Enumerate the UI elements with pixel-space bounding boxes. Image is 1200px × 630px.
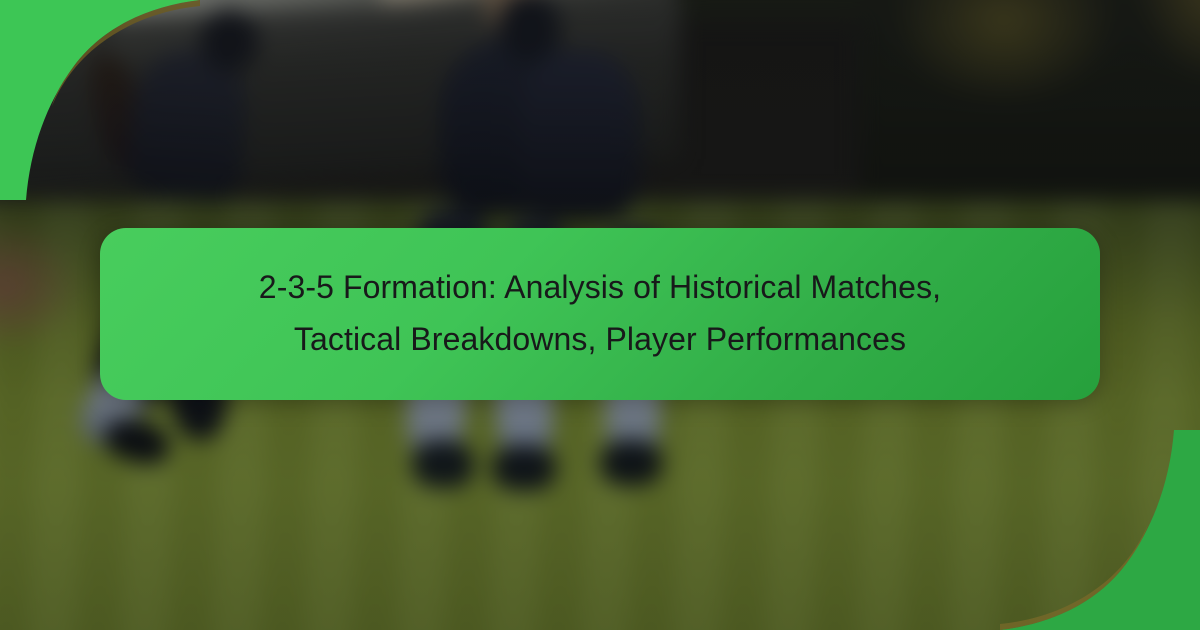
title-card: 2-3-5 Formation: Analysis of Historical …	[100, 228, 1100, 400]
page-title-line-1: 2-3-5 Formation: Analysis of Historical …	[259, 269, 941, 305]
page-title-line-2: Tactical Breakdowns, Player Performances	[294, 321, 906, 357]
page-title: 2-3-5 Formation: Analysis of Historical …	[144, 262, 1056, 366]
banner-stage: 2-3-5 Formation: Analysis of Historical …	[0, 0, 1200, 630]
